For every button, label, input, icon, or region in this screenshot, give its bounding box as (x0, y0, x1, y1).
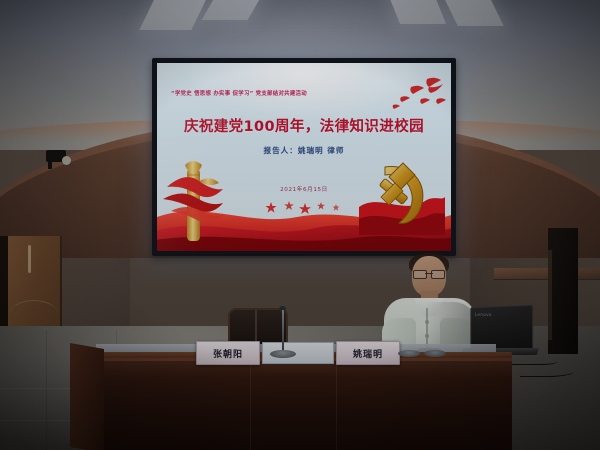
eyeglasses-icon (413, 270, 445, 277)
microphone-base (270, 350, 296, 358)
podium-panel-seam (250, 361, 251, 450)
name-placard-left: 张朝阳 (196, 341, 260, 365)
projection-screen: “学党史 悟思想 办实事 促学习” 党支部结对共建活动 庆祝建党100周年，法律… (152, 58, 456, 256)
slide-presenter: 报告人：姚瑞明 律师 (157, 145, 451, 156)
microphone-base (398, 350, 420, 357)
rack-edge-highlight (548, 250, 552, 340)
cable (512, 356, 558, 365)
podium (88, 358, 512, 450)
podium-side-face (70, 343, 104, 450)
slide-kicker: “学党史 悟思想 办实事 促学习” 党支部结对共建活动 (171, 89, 371, 97)
door-handle[interactable] (28, 245, 31, 273)
huabiao-column-icon (161, 159, 225, 243)
microphone-base (424, 350, 446, 357)
podium-panel-seam (336, 361, 337, 450)
party-emblem-icon (359, 157, 445, 235)
microphone-stem (282, 310, 284, 352)
slide-title: 庆祝建党100周年，法律知识进校园 (157, 115, 451, 136)
equipment-rack (548, 228, 578, 354)
slide-canvas: “学党史 悟思想 办实事 促学习” 党支部结对共建活动 庆祝建党100周年，法律… (157, 63, 451, 251)
wall-camera-icon (46, 150, 66, 162)
doves-icon (385, 75, 447, 115)
wall-camera-arm (48, 162, 52, 169)
cable (520, 366, 574, 377)
laptop-brand-label: Lenovo (475, 312, 492, 317)
classroom-photo-scene: “学党史 悟思想 办实事 促学习” 党支部结对共建活动 庆祝建党100周年，法律… (0, 0, 600, 450)
wall-slat (494, 268, 600, 279)
name-placard-right: 姚瑞明 (336, 341, 400, 365)
